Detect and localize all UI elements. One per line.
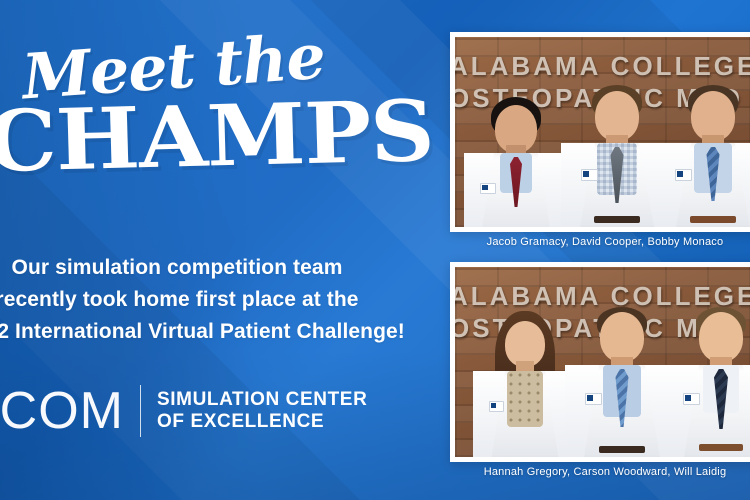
id-badge [480,183,496,194]
logo-divider [140,385,141,437]
coat-lapel-left [473,371,505,457]
person-right [663,307,750,457]
person-right [655,85,750,227]
body-copy-line-2: recently took home first place at the [0,284,392,316]
body-copy: Our simulation competition team recently… [0,252,392,348]
logo-subtitle-line-1: SIMULATION CENTER [157,389,367,411]
id-badge [585,393,602,405]
photo-image-top: ALABAMA COLLEGE OSTEOPATHIC MED [455,37,750,227]
photo-caption-bottom: Hannah Gregory, Carson Woodward, Will La… [450,466,750,478]
photo-frame-top: ALABAMA COLLEGE OSTEOPATHIC MED [450,32,750,232]
head [691,91,735,141]
belt [690,216,736,223]
belt [594,216,640,223]
coat-lapel-left [565,365,599,457]
coat-lapel-left [561,143,595,227]
patterned-blouse [507,371,543,427]
body-copy-line-1: Our simulation competition team [0,252,392,284]
photo-card-top: ALABAMA COLLEGE OSTEOPATHIC MED [450,32,750,232]
promo-graphic: Meet the CHAMPS Our simulation competiti… [0,0,750,500]
belt [599,446,645,453]
id-badge [683,393,700,405]
head [600,312,644,362]
logo-subtitle-line-2: OF EXCELLENCE [157,411,367,433]
id-badge [489,401,504,412]
coat-lapel-left [657,143,691,227]
person-left [461,95,571,227]
white-coat [657,143,750,227]
logo-subtitle: SIMULATION CENTER OF EXCELLENCE [157,389,367,434]
photo-frame-bottom: ALABAMA COLLEGE OSTEOPATHIC MED [450,262,750,462]
acom-wordmark: ACOM [0,385,140,437]
headline-block: Meet the CHAMPS [0,22,440,202]
headline-display-text: CHAMPS [0,89,435,184]
coat-lapel-right [743,365,750,457]
body-copy-line-3: 2022 International Virtual Patient Chall… [0,316,392,348]
coat-lapel-right [735,143,750,227]
head [595,91,639,141]
belt [699,444,743,451]
white-coat [464,153,568,227]
left-content-column: Meet the CHAMPS Our simulation competiti… [0,0,440,500]
photo-image-bottom: ALABAMA COLLEGE OSTEOPATHIC MED [455,267,750,457]
photo-card-bottom: ALABAMA COLLEGE OSTEOPATHIC MED [450,262,750,462]
id-badge [581,169,598,181]
people-group-top [455,37,750,227]
photo-caption-top: Jacob Gramacy, David Cooper, Bobby Monac… [450,236,750,248]
coat-lapel-left [665,365,699,457]
white-coat [665,365,750,457]
white-coat [565,365,679,457]
white-coat [473,371,577,457]
people-group-bottom [455,267,750,457]
head [699,312,743,362]
acom-logo-lockup: ACOM SIMULATION CENTER OF EXCELLENCE [0,385,367,437]
id-badge [675,169,692,181]
